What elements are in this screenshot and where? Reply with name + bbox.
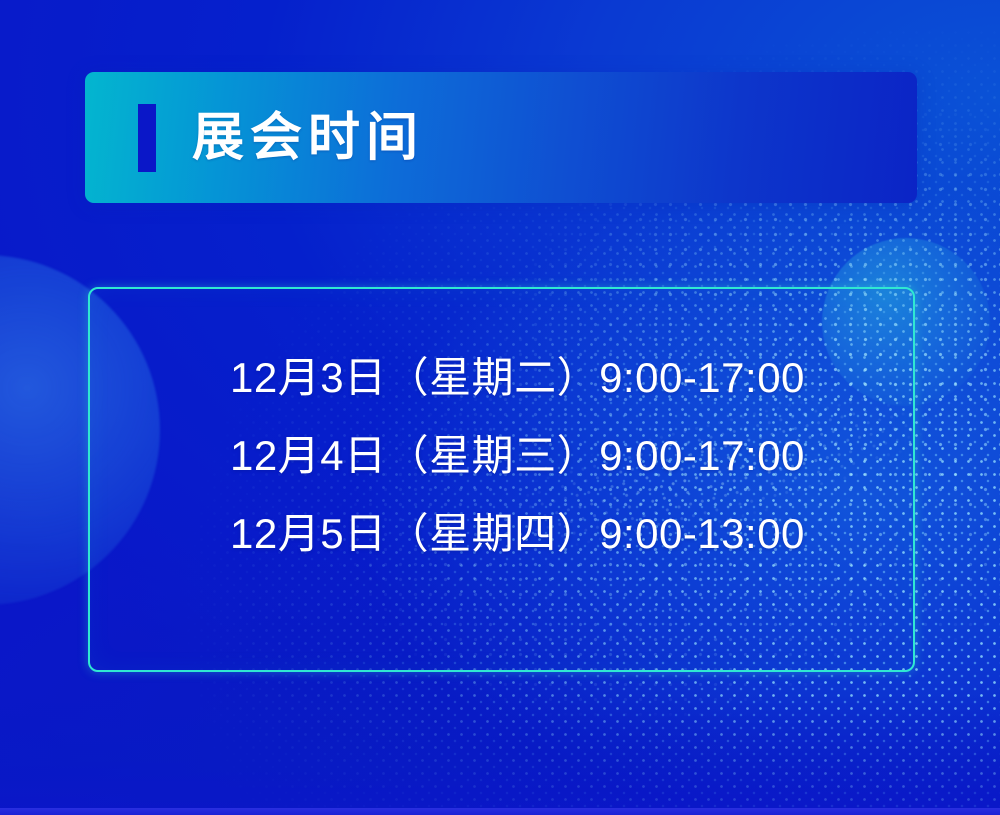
background-bottom-band	[0, 695, 1000, 815]
page-title: 展会时间	[192, 112, 424, 164]
schedule-row: 12月3日（星期二）9:00-17:00	[230, 357, 805, 399]
background-bottom-line	[0, 808, 1000, 815]
schedule-row: 12月5日（星期四）9:00-13:00	[230, 513, 805, 555]
exhibition-time-poster: 展会时间 12月3日（星期二）9:00-17:00 12月4日（星期三）9:00…	[0, 0, 1000, 815]
schedule-row: 12月4日（星期三）9:00-17:00	[230, 435, 805, 477]
schedule-list: 12月3日（星期二）9:00-17:00 12月4日（星期三）9:00-17:0…	[230, 357, 805, 555]
header-banner: 展会时间	[85, 72, 917, 203]
accent-bar-icon	[138, 104, 156, 172]
schedule-frame: 12月3日（星期二）9:00-17:00 12月4日（星期三）9:00-17:0…	[88, 287, 915, 672]
